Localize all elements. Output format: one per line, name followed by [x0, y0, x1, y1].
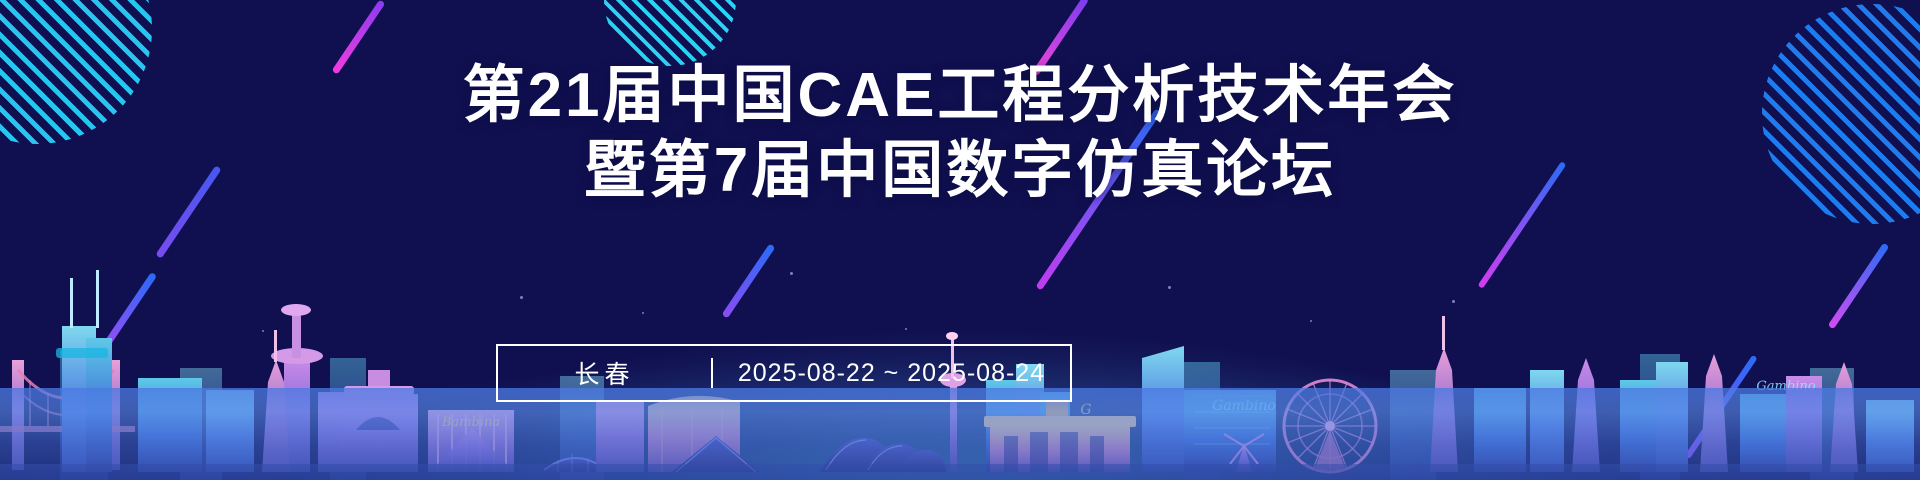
diagonal-line-violet-bottom-right-icon	[1828, 243, 1890, 330]
star	[520, 296, 523, 299]
svg-text:Gambino: Gambino	[1212, 398, 1276, 414]
title-line-1: 第21届中国CAE工程分析技术年会	[0, 58, 1920, 133]
star	[790, 272, 793, 275]
event-city: 长春	[498, 355, 711, 391]
title-line-2: 暨第7届中国数字仿真论坛	[0, 133, 1920, 208]
striped-circle-top-center-icon	[604, 0, 736, 66]
star	[1452, 300, 1455, 303]
svg-text:Gambino: Gambino	[1756, 379, 1815, 394]
event-info-box: 长春 2025-08-22 ~ 2025-08-24	[496, 344, 1072, 402]
star	[642, 312, 644, 314]
star	[1310, 320, 1312, 322]
svg-text:G: G	[1080, 402, 1091, 418]
star	[905, 328, 907, 330]
diagonal-line-violet-center-right-icon	[1684, 355, 1757, 459]
event-date-range: 2025-08-22 ~ 2025-08-24	[713, 359, 1070, 388]
star	[262, 330, 264, 332]
diagonal-line-blue-sky-icon	[722, 243, 776, 318]
svg-text:Bambina: Bambina	[441, 415, 500, 430]
diagonal-line-blue-lower-left-icon	[100, 272, 157, 352]
banner-title: 第21届中国CAE工程分析技术年会 暨第7届中国数字仿真论坛	[0, 58, 1920, 208]
star	[1168, 286, 1171, 289]
conference-banner: Bambina	[0, 0, 1920, 480]
